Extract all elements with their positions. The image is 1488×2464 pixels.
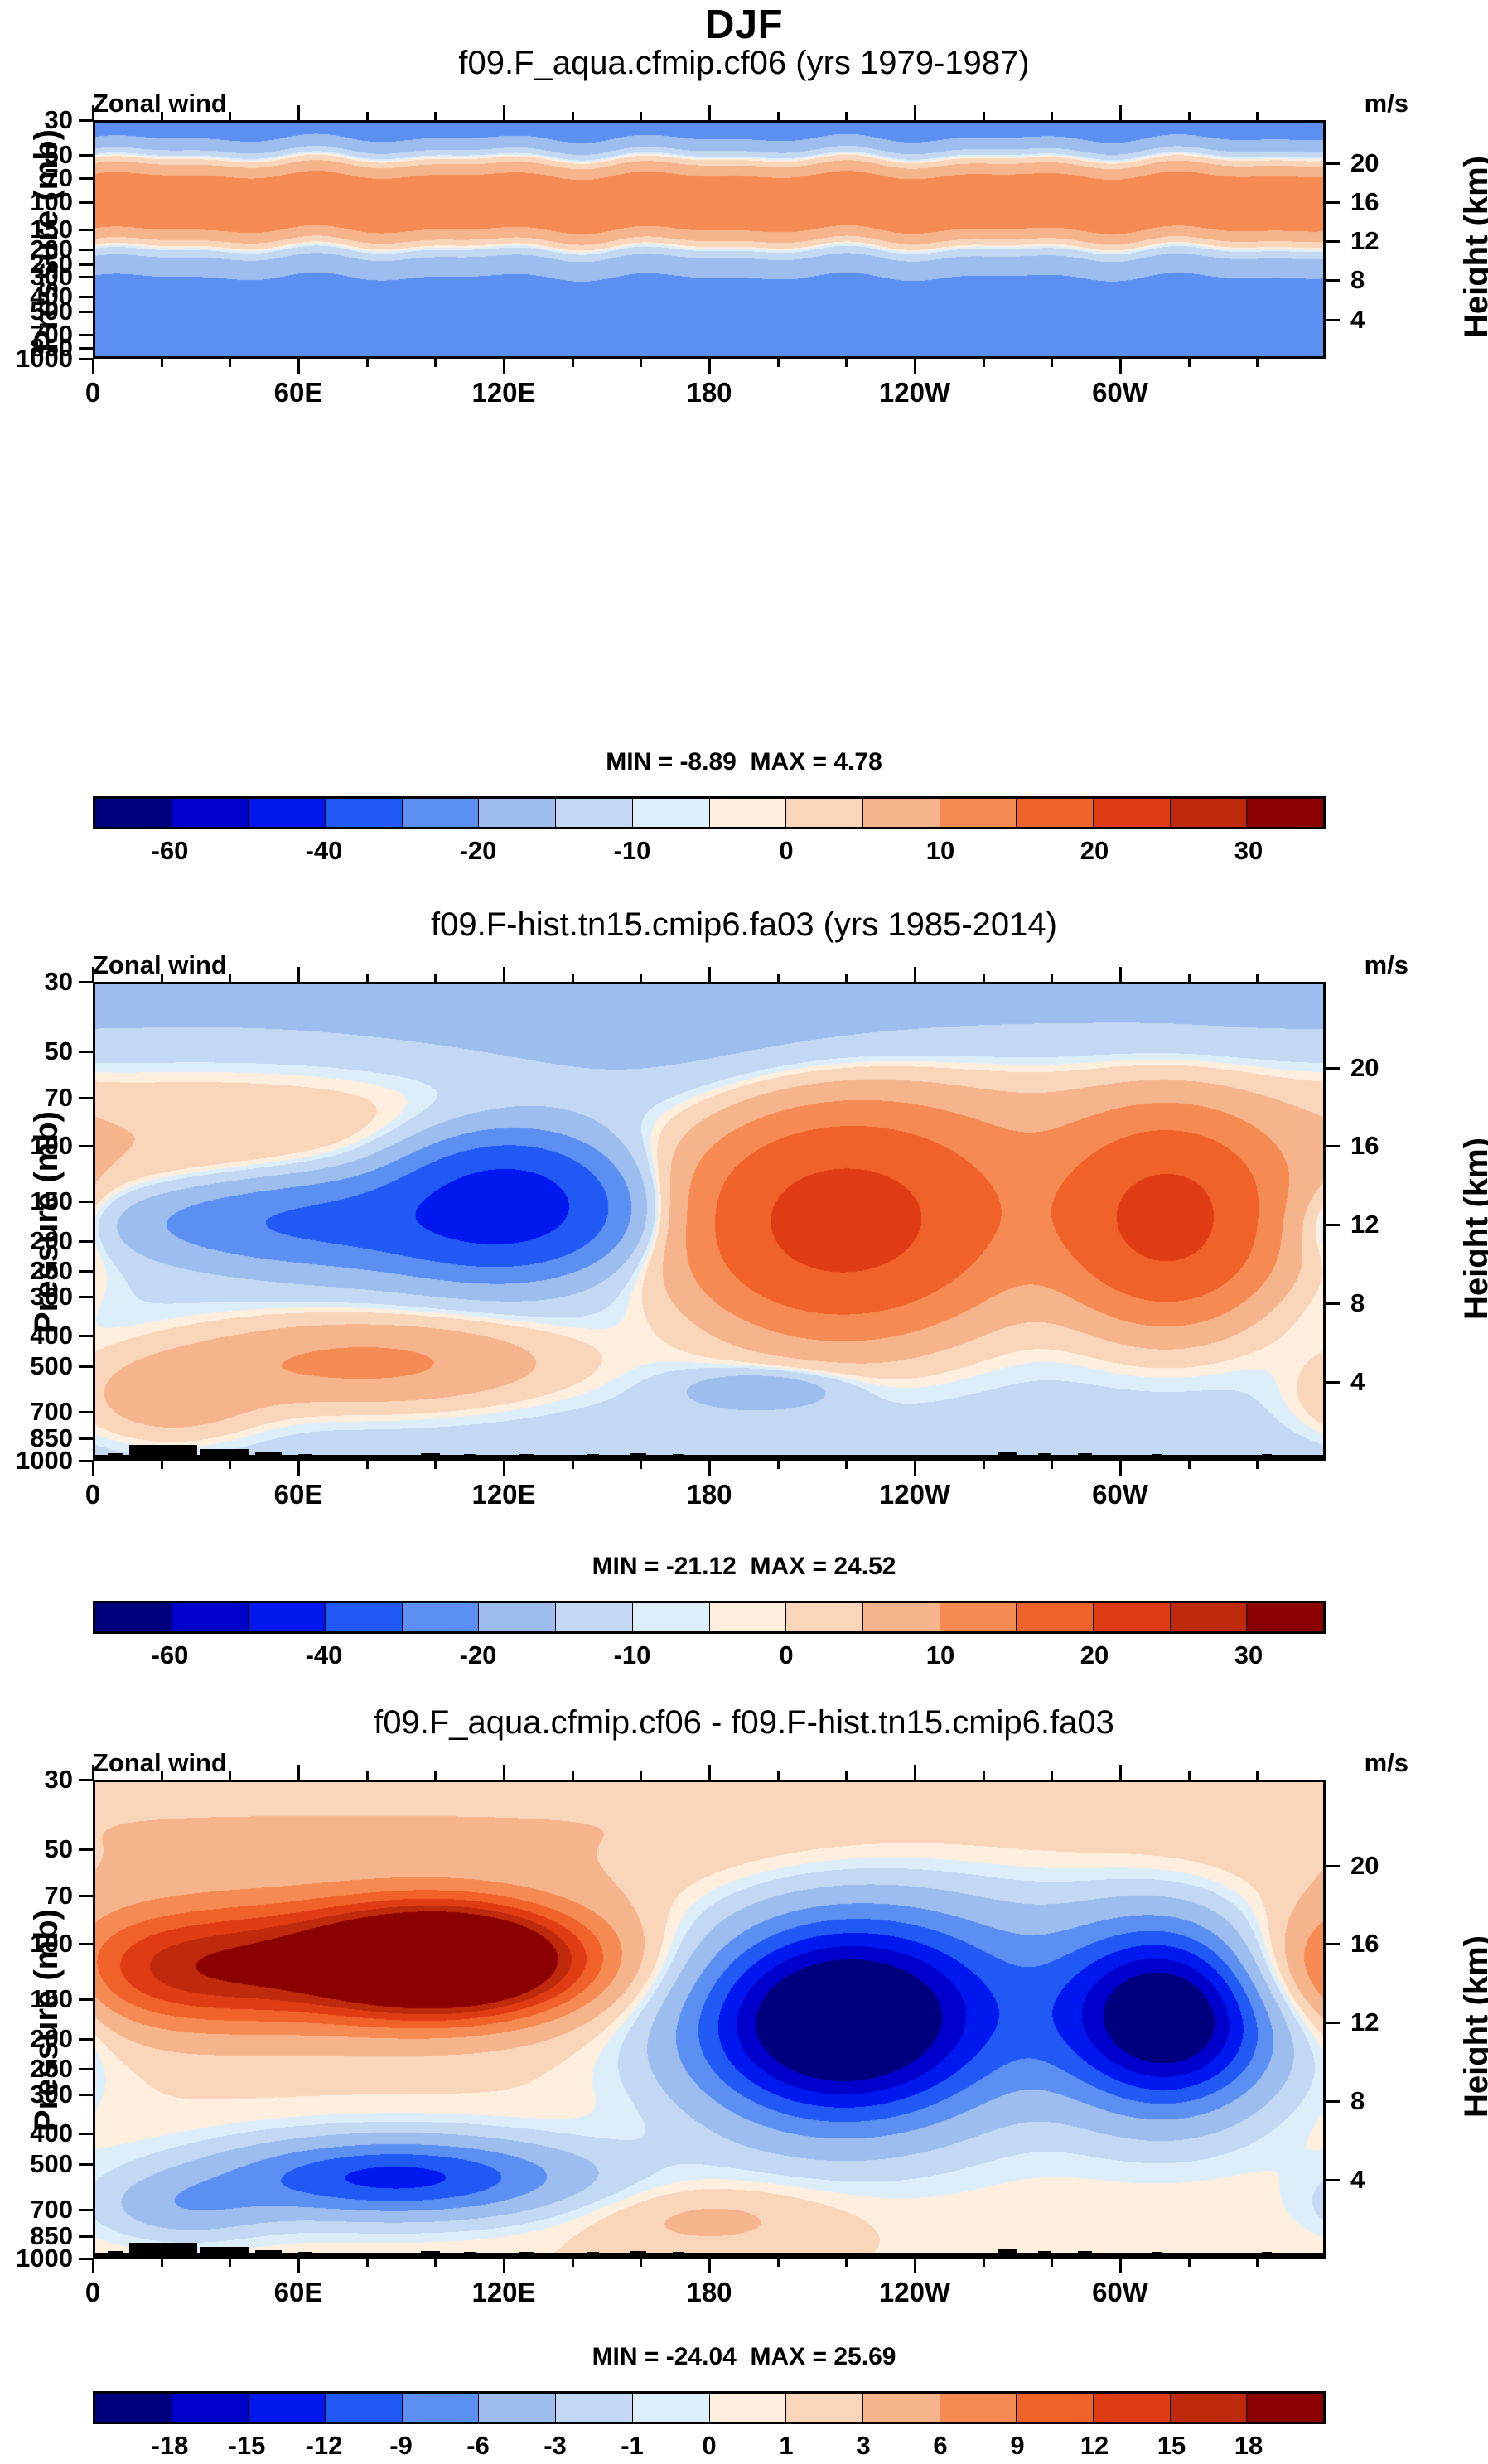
colorbar-swatch [403, 799, 480, 827]
pressure-tick-label: 70 [45, 1083, 73, 1113]
longitude-minor-tick [845, 2259, 848, 2267]
colorbar-swatch [479, 2394, 556, 2422]
longitude-tick-label: 180 [686, 2277, 732, 2308]
pressure-tick-mark [79, 296, 93, 298]
panel-1-height-axis-title: Height (km) [1458, 156, 1488, 338]
colorbar-swatch [95, 2394, 172, 2422]
height-tick-mark [1326, 1145, 1340, 1147]
colorbar-swatch [1247, 2394, 1323, 2422]
longitude-minor-tick [777, 974, 780, 982]
longitude-minor-tick [1256, 359, 1259, 367]
height-tick-mark [1326, 279, 1340, 282]
longitude-minor-tick [1188, 2259, 1191, 2267]
pressure-tick-label: 200 [30, 2024, 73, 2054]
colorbar-tick-label: -15 [229, 2431, 266, 2461]
height-tick-label: 8 [1350, 265, 1365, 295]
colorbar-swatch [1171, 799, 1248, 827]
panel-1-minmax: MIN = -8.89 MAX = 4.78 [0, 748, 1488, 776]
height-tick-mark [1326, 2179, 1340, 2181]
colorbar-tick-label: -3 [544, 2431, 567, 2461]
colorbar-swatch [1017, 1603, 1094, 1631]
pressure-tick-mark [79, 1097, 93, 1099]
longitude-minor-tick [572, 112, 574, 120]
longitude-minor-tick [229, 974, 231, 982]
longitude-tick-mark-top [297, 105, 300, 120]
longitude-minor-tick [572, 2259, 574, 2267]
panel-3-contours [95, 1782, 1323, 2256]
pressure-tick-label: 300 [30, 2080, 73, 2109]
longitude-minor-tick [983, 112, 985, 120]
longitude-tick-label: 180 [686, 1479, 732, 1510]
colorbar-swatch [710, 1603, 787, 1631]
height-tick-label: 4 [1350, 305, 1365, 335]
pressure-tick-mark [79, 276, 93, 278]
panel-2-minmax: MIN = -21.12 MAX = 24.52 [0, 1553, 1488, 1581]
longitude-minor-tick [434, 359, 437, 367]
height-tick-mark [1326, 240, 1340, 243]
pressure-tick-label: 100 [30, 187, 73, 217]
longitude-tick-mark [297, 359, 300, 374]
panel-1-title: f09.F_aqua.cfmip.cf06 (yrs 1979-1987) [0, 45, 1488, 82]
height-tick-label: 4 [1350, 2165, 1365, 2195]
surface-line [95, 1455, 1323, 1458]
height-tick-label: 12 [1350, 226, 1379, 256]
colorbar-tick-label: 9 [1010, 2431, 1024, 2461]
longitude-tick-label: 180 [686, 377, 732, 408]
longitude-tick-label: 120W [879, 377, 950, 408]
longitude-tick-mark-top [708, 967, 711, 982]
pressure-tick-mark [79, 981, 93, 983]
colorbar-tick-label: -6 [466, 2431, 490, 2461]
colorbar-swatch [403, 2394, 480, 2422]
colorbar-tick-label: 30 [1234, 1640, 1263, 1670]
longitude-minor-tick [983, 974, 985, 982]
pressure-tick-label: 1000 [16, 1446, 73, 1476]
contour-canvas [95, 1782, 1323, 2256]
colorbar-swatch [1094, 799, 1171, 827]
longitude-minor-tick [1188, 112, 1191, 120]
panel-3-units-label: m/s [1365, 1748, 1408, 1778]
longitude-minor-tick [845, 1461, 848, 1469]
pressure-tick-mark [79, 347, 93, 350]
colorbar-swatch [556, 1603, 633, 1631]
height-tick-mark [1326, 162, 1340, 165]
contour-canvas [95, 123, 1323, 356]
colorbar-swatch [633, 799, 710, 827]
pressure-tick-label: 1000 [16, 2244, 73, 2273]
longitude-minor-tick [983, 2259, 985, 2267]
longitude-tick-mark [708, 1461, 711, 1476]
longitude-tick-label: 0 [85, 377, 100, 408]
longitude-tick-label: 120W [879, 2277, 950, 2308]
longitude-minor-tick [1051, 1461, 1053, 1469]
colorbar-swatch [1171, 2394, 1248, 2422]
panel-1-colorbar [93, 796, 1326, 829]
pressure-tick-mark [79, 1240, 93, 1243]
longitude-minor-tick [845, 359, 848, 367]
longitude-minor-tick [366, 1771, 369, 1780]
pressure-tick-mark [79, 229, 93, 231]
longitude-minor-tick [1051, 1771, 1053, 1780]
longitude-tick-mark-top [914, 1765, 916, 1780]
pressure-tick-mark [79, 1895, 93, 1897]
longitude-tick-mark-top [297, 967, 300, 982]
longitude-minor-tick [777, 112, 780, 120]
panel-1-max-value: 4.78 [833, 748, 882, 775]
longitude-tick-mark-top [1119, 1765, 1122, 1780]
colorbar-tick-label: 20 [1080, 836, 1109, 866]
longitude-minor-tick [1256, 1461, 1259, 1469]
panel-2-colorbar [93, 1601, 1326, 1634]
longitude-minor-tick [434, 974, 437, 982]
colorbar-swatch [249, 1603, 326, 1631]
colorbar-tick-label: 15 [1157, 2431, 1186, 2461]
longitude-minor-tick [434, 2259, 437, 2267]
longitude-minor-tick [161, 1771, 163, 1780]
colorbar-tick-label: -60 [152, 1640, 189, 1670]
longitude-tick-mark [1119, 2259, 1122, 2273]
pressure-tick-mark [79, 1437, 93, 1440]
longitude-tick-mark-top [1119, 967, 1122, 982]
height-tick-label: 20 [1350, 1053, 1379, 1083]
colorbar-swatch [479, 799, 556, 827]
pressure-tick-mark [79, 2094, 93, 2096]
longitude-tick-mark [297, 2259, 300, 2273]
pressure-tick-mark [79, 358, 93, 360]
longitude-minor-tick [572, 359, 574, 367]
longitude-tick-mark-top [914, 967, 916, 982]
height-tick-label: 16 [1350, 187, 1379, 217]
colorbar-swatch [479, 1603, 556, 1631]
longitude-tick-label: 60E [274, 377, 323, 408]
colorbar-tick-label: 30 [1234, 836, 1263, 866]
longitude-tick-mark-top [92, 1765, 94, 1780]
longitude-tick-label: 120E [471, 2277, 535, 2308]
colorbar-swatch [1247, 799, 1323, 827]
height-tick-label: 20 [1350, 148, 1379, 178]
longitude-minor-tick [983, 1461, 985, 1469]
longitude-tick-mark-top [92, 105, 94, 120]
longitude-minor-tick [1051, 359, 1053, 367]
colorbar-tick-label: 0 [702, 2431, 716, 2461]
longitude-minor-tick [845, 974, 848, 982]
longitude-minor-tick [366, 359, 369, 367]
panel-3-colorbar [93, 2391, 1326, 2424]
pressure-tick-mark [79, 1145, 93, 1147]
longitude-minor-tick [366, 1461, 369, 1469]
height-tick-label: 20 [1350, 1851, 1379, 1881]
longitude-tick-mark-top [708, 105, 711, 120]
colorbar-tick-label: -20 [460, 836, 497, 866]
longitude-minor-tick [1256, 2259, 1259, 2267]
pressure-tick-mark [79, 2068, 93, 2070]
colorbar-swatch [940, 799, 1017, 827]
main-title: DJF [0, 2, 1488, 48]
pressure-tick-mark [79, 334, 93, 336]
longitude-minor-tick [640, 359, 642, 367]
longitude-minor-tick [1256, 974, 1259, 982]
colorbar-tick-label: -1 [621, 2431, 644, 2461]
pressure-tick-mark [79, 263, 93, 266]
pressure-tick-label: 400 [30, 2119, 73, 2148]
height-tick-mark [1326, 1865, 1340, 1867]
colorbar-swatch [863, 799, 940, 827]
colorbar-swatch [710, 799, 787, 827]
pressure-tick-label: 50 [45, 1834, 73, 1864]
height-tick-mark [1326, 2022, 1340, 2024]
colorbar-swatch [556, 799, 633, 827]
longitude-tick-mark [297, 1461, 300, 1476]
pressure-tick-mark [79, 2038, 93, 2041]
longitude-minor-tick [640, 1461, 642, 1469]
colorbar-tick-label: -60 [152, 836, 189, 866]
longitude-tick-mark [92, 2259, 94, 2273]
pressure-tick-mark [79, 1296, 93, 1298]
pressure-tick-mark [79, 249, 93, 251]
pressure-tick-label: 100 [30, 1929, 73, 1959]
longitude-minor-tick [1051, 974, 1053, 982]
longitude-tick-mark-top [92, 967, 94, 982]
longitude-tick-mark [92, 359, 94, 374]
panel-2-plot [93, 982, 1326, 1461]
pressure-tick-label: 70 [45, 1881, 73, 1911]
colorbar-tick-label: -40 [306, 836, 343, 866]
longitude-minor-tick [572, 1771, 574, 1780]
longitude-tick-mark [1119, 1461, 1122, 1476]
longitude-tick-mark-top [503, 967, 505, 982]
pressure-tick-mark [79, 2235, 93, 2238]
pressure-tick-mark [79, 177, 93, 180]
panel-2-max-prefix: MAX = [751, 1553, 834, 1580]
longitude-tick-mark [503, 2259, 505, 2273]
longitude-minor-tick [434, 112, 437, 120]
colorbar-tick-label: 18 [1234, 2431, 1263, 2461]
height-tick-mark [1326, 1381, 1340, 1384]
longitude-minor-tick [229, 2259, 231, 2267]
panel-1-units-label: m/s [1365, 89, 1408, 118]
colorbar-tick-label: -9 [389, 2431, 413, 2461]
longitude-minor-tick [983, 1771, 985, 1780]
pressure-tick-mark [79, 1779, 93, 1781]
longitude-minor-tick [983, 359, 985, 367]
longitude-minor-tick [1256, 1771, 1259, 1780]
pressure-tick-label: 1000 [16, 344, 73, 374]
longitude-minor-tick [161, 1461, 163, 1469]
pressure-tick-label: 500 [30, 1351, 73, 1381]
colorbar-swatch [1017, 799, 1094, 827]
longitude-minor-tick [1051, 112, 1053, 120]
colorbar-tick-label: -10 [614, 1640, 651, 1670]
longitude-tick-mark-top [914, 105, 916, 120]
height-tick-label: 8 [1350, 1288, 1365, 1318]
panel-1-min-value: -8.89 [679, 748, 736, 775]
height-tick-label: 16 [1350, 1929, 1379, 1959]
longitude-minor-tick [572, 974, 574, 982]
colorbar-swatch [95, 1603, 172, 1631]
panel-1-min-prefix: MIN = [606, 748, 679, 775]
colorbar-tick-label: -18 [152, 2431, 189, 2461]
colorbar-tick-label: 0 [779, 1640, 793, 1670]
panel-3-height-axis-title: Height (km) [1458, 1935, 1488, 2118]
pressure-tick-mark [79, 2209, 93, 2211]
colorbar-swatch [633, 2394, 710, 2422]
longitude-tick-mark-top [297, 1765, 300, 1780]
height-tick-mark [1326, 319, 1340, 321]
longitude-tick-mark-top [708, 1765, 711, 1780]
height-tick-label: 8 [1350, 2086, 1365, 2116]
longitude-minor-tick [572, 1461, 574, 1469]
longitude-minor-tick [1188, 974, 1191, 982]
pressure-tick-mark [79, 1270, 93, 1273]
colorbar-swatch [1094, 1603, 1171, 1631]
longitude-tick-label: 120E [471, 1479, 535, 1510]
panel-3-min-value: -24.04 [666, 2343, 737, 2370]
longitude-tick-mark-top [503, 105, 505, 120]
longitude-tick-mark [92, 1461, 94, 1476]
longitude-tick-mark [708, 359, 711, 374]
longitude-minor-tick [161, 974, 163, 982]
longitude-tick-label: 0 [85, 1479, 100, 1510]
pressure-tick-mark [79, 1848, 93, 1851]
panel-3-max-prefix: MAX = [751, 2343, 834, 2370]
longitude-minor-tick [434, 1461, 437, 1469]
colorbar-swatch [172, 1603, 249, 1631]
colorbar-swatch [1171, 1603, 1248, 1631]
longitude-tick-mark [503, 1461, 505, 1476]
longitude-minor-tick [1256, 112, 1259, 120]
longitude-minor-tick [161, 359, 163, 367]
pressure-tick-mark [79, 2258, 93, 2260]
pressure-tick-label: 30 [45, 1765, 73, 1795]
figure-root: DJF f09.F_aqua.cfmip.cf06 (yrs 1979-1987… [0, 0, 1488, 2464]
pressure-tick-label: 700 [30, 2195, 73, 2225]
colorbar-swatch [863, 1603, 940, 1631]
colorbar-swatch [863, 2394, 940, 2422]
colorbar-swatch [326, 2394, 403, 2422]
longitude-tick-label: 120W [879, 1479, 950, 1510]
colorbar-swatch [786, 2394, 863, 2422]
pressure-tick-mark [79, 2163, 93, 2166]
longitude-minor-tick [1188, 1771, 1191, 1780]
pressure-tick-label: 30 [45, 967, 73, 997]
panel-2-height-axis-title: Height (km) [1458, 1138, 1488, 1320]
colorbar-swatch [710, 2394, 787, 2422]
longitude-tick-mark-top [1119, 105, 1122, 120]
height-tick-mark [1326, 201, 1340, 204]
longitude-tick-label: 60W [1092, 2277, 1148, 2308]
colorbar-tick-label: -40 [306, 1640, 343, 1670]
longitude-minor-tick [229, 1771, 231, 1780]
longitude-tick-mark [503, 359, 505, 374]
height-tick-mark [1326, 1943, 1340, 1945]
pressure-tick-label: 30 [45, 105, 73, 135]
colorbar-tick-label: 20 [1080, 1640, 1109, 1670]
longitude-minor-tick [845, 1771, 848, 1780]
surface-line [95, 2253, 1323, 2256]
colorbar-tick-label: 10 [926, 836, 954, 866]
pressure-tick-label: 150 [30, 1984, 73, 2014]
colorbar-swatch [249, 2394, 326, 2422]
longitude-tick-mark-top [503, 1765, 505, 1780]
pressure-tick-mark [79, 1335, 93, 1337]
panel-3-plot [93, 1780, 1326, 2259]
pressure-tick-mark [79, 2133, 93, 2135]
pressure-tick-mark [79, 1365, 93, 1368]
longitude-minor-tick [366, 974, 369, 982]
colorbar-swatch [1247, 1603, 1323, 1631]
colorbar-tick-label: 12 [1080, 2431, 1109, 2461]
panel-3-minmax: MIN = -24.04 MAX = 25.69 [0, 2343, 1488, 2371]
pressure-tick-mark [79, 154, 93, 157]
panel-1-plot [93, 120, 1326, 359]
longitude-minor-tick [640, 1771, 642, 1780]
longitude-minor-tick [1188, 1461, 1191, 1469]
height-tick-label: 4 [1350, 1367, 1365, 1397]
longitude-minor-tick [1051, 2259, 1053, 2267]
height-tick-label: 16 [1350, 1131, 1379, 1161]
panel-1-contours [95, 123, 1323, 356]
longitude-minor-tick [161, 112, 163, 120]
colorbar-tick-label: 3 [856, 2431, 870, 2461]
colorbar-swatch [172, 799, 249, 827]
pressure-tick-label: 700 [30, 1397, 73, 1427]
colorbar-swatch [940, 1603, 1017, 1631]
colorbar-tick-label: 10 [926, 1640, 954, 1670]
longitude-tick-label: 120E [471, 377, 535, 408]
pressure-tick-mark [79, 1411, 93, 1413]
longitude-minor-tick [777, 359, 780, 367]
pressure-tick-mark [79, 311, 93, 313]
pressure-tick-mark [79, 119, 93, 122]
longitude-minor-tick [229, 359, 231, 367]
panel-3-min-prefix: MIN = [592, 2343, 666, 2370]
colorbar-swatch [326, 1603, 403, 1631]
longitude-minor-tick [366, 112, 369, 120]
colorbar-swatch [786, 799, 863, 827]
height-tick-label: 12 [1350, 2007, 1379, 2037]
longitude-tick-mark [914, 2259, 916, 2273]
colorbar-swatch [249, 799, 326, 827]
colorbar-swatch [172, 2394, 249, 2422]
panel-2-min-value: -21.12 [666, 1553, 737, 1580]
longitude-minor-tick [777, 2259, 780, 2267]
panel-2-title: f09.F-hist.tn15.cmip6.fa03 (yrs 1985-201… [0, 906, 1488, 944]
height-tick-label: 12 [1350, 1210, 1379, 1239]
pressure-tick-mark [79, 1201, 93, 1203]
height-tick-mark [1326, 1302, 1340, 1305]
longitude-tick-label: 60E [274, 2277, 323, 2308]
longitude-minor-tick [640, 974, 642, 982]
height-tick-mark [1326, 2100, 1340, 2103]
colorbar-swatch [1094, 2394, 1171, 2422]
longitude-minor-tick [161, 2259, 163, 2267]
longitude-minor-tick [229, 112, 231, 120]
colorbar-tick-label: 0 [779, 836, 793, 866]
pressure-tick-label: 150 [30, 1186, 73, 1216]
colorbar-tick-label: -10 [614, 836, 651, 866]
longitude-tick-label: 60E [274, 1479, 323, 1510]
pressure-tick-label: 400 [30, 1321, 73, 1350]
colorbar-swatch [940, 2394, 1017, 2422]
panel-2-units-label: m/s [1365, 950, 1408, 980]
pressure-tick-mark [79, 201, 93, 204]
panel-1-max-prefix: MAX = [751, 748, 834, 775]
panel-2-min-prefix: MIN = [592, 1553, 666, 1580]
longitude-minor-tick [640, 2259, 642, 2267]
pressure-tick-label: 300 [30, 1282, 73, 1312]
longitude-tick-label: 60W [1092, 377, 1148, 408]
pressure-tick-label: 200 [30, 1226, 73, 1256]
